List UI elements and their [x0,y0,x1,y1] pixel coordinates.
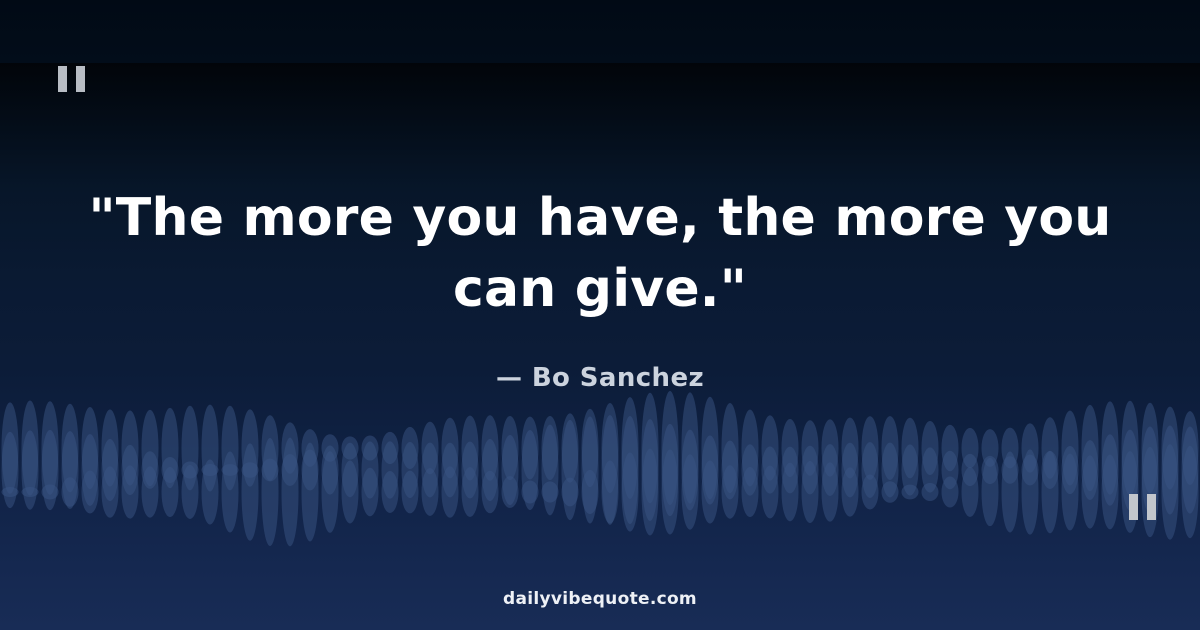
band-top [0,391,1200,505]
quote-mark-bar-left [1129,494,1138,520]
band-middle [0,415,1200,525]
band-bottom [0,438,1200,547]
footer: dailyvibequote.com [0,589,1200,609]
quote-attribution: — Bo Sanchez [496,363,704,393]
quote-mark-bar-right [1147,494,1156,520]
quote-mark-bar-right [76,66,85,92]
quote-mark-icon-bottom [1129,494,1156,520]
quote-block: "The more you have, the more you can giv… [40,183,1160,324]
site-url-label: dailyvibequote.com [503,589,697,609]
quote-mark-icon-top [58,66,85,92]
quote-mark-bar-left [58,66,67,92]
quote-card: "The more you have, the more you can giv… [0,0,1200,630]
quote-text: "The more you have, the more you can giv… [40,183,1160,324]
